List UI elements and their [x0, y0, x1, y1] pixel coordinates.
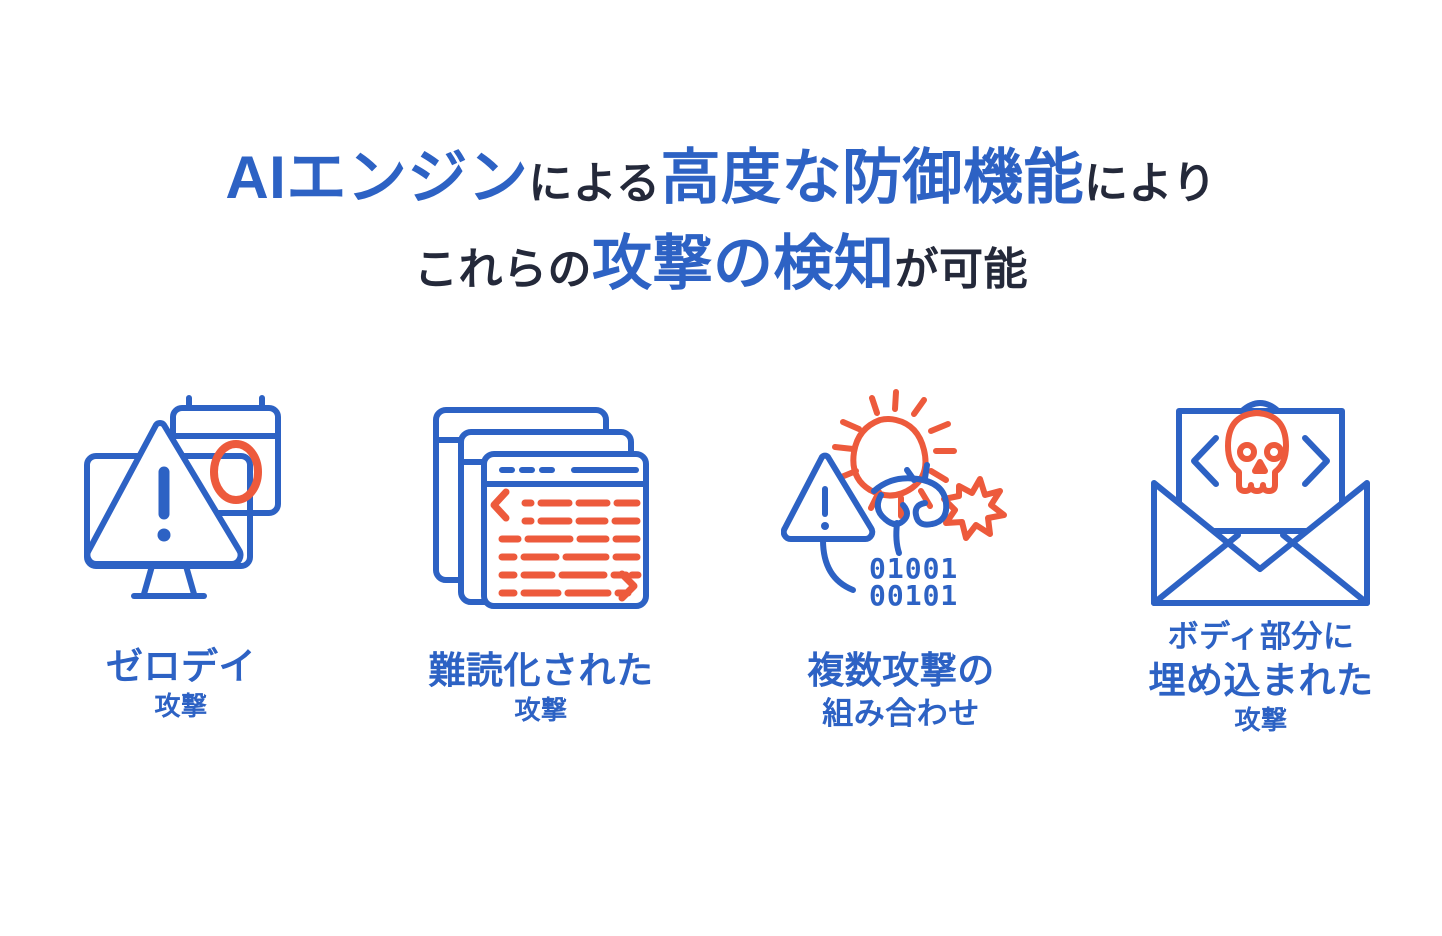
caption-line: ゼロデイ	[106, 643, 256, 690]
headline-segment-korerano: これらの	[414, 245, 592, 294]
headline-segment-attack-detection: 攻撃の検知	[592, 230, 895, 297]
headline-segment-niyori: により	[1084, 159, 1217, 208]
impact-burst-shape	[944, 479, 1004, 538]
card-obfuscated-attack: 難読化された 攻撃	[361, 375, 721, 728]
connector-arc	[823, 540, 853, 590]
binary-text-bottom: 00101	[869, 579, 958, 612]
icon-container-obfuscated	[426, 375, 656, 625]
caption-line: 組み合わせ	[807, 694, 995, 734]
caption-multi-attack: 複数攻撃の 組み合わせ	[807, 647, 995, 734]
card-body-embedded-attack: ボディ部分に 埋め込まれた 攻撃	[1081, 375, 1441, 737]
caption-line: 攻撃	[1149, 704, 1374, 737]
page-title: AIエンジンによる高度な防御機能により これらの攻撃の検知が可能	[0, 148, 1442, 294]
card-zero-day-attack: ゼロデイ 攻撃	[1, 375, 361, 724]
headline-segment-ai-engine: AIエンジン	[225, 144, 528, 211]
multi-attack-bug-binary-icon: 01001 00101	[781, 383, 1021, 618]
caption-line: 攻撃	[106, 690, 256, 723]
caption-line: 難読化された	[429, 647, 654, 694]
stacked-code-windows-icon	[426, 388, 656, 613]
caption-zero-day: ゼロデイ 攻撃	[106, 643, 256, 724]
worm-shape	[874, 465, 946, 553]
caption-line: 複数攻撃の	[807, 647, 995, 694]
caption-body-embedded: ボディ部分に 埋め込まれた 攻撃	[1149, 617, 1374, 737]
caption-obfuscated: 難読化された 攻撃	[429, 647, 654, 728]
headline-segment-advanced-defense: 高度な防御機能	[661, 144, 1085, 211]
caption-line: 攻撃	[429, 694, 654, 727]
headline-line-2: これらの攻撃の検知が可能	[0, 234, 1442, 294]
attack-type-card-row: ゼロデイ 攻撃	[0, 375, 1442, 737]
monitor-warning-zeroday-icon	[56, 380, 306, 620]
icon-container-zero-day	[56, 375, 306, 625]
headline-line-1: AIエンジンによる高度な防御機能により	[0, 148, 1442, 208]
card-multi-attack-combination: 01001 00101 複数攻撃の 組み合わせ	[721, 375, 1081, 734]
headline-segment-niyoru: による	[528, 159, 660, 208]
icon-container-body-embedded	[1146, 375, 1376, 625]
caption-line: ボディ部分に	[1149, 617, 1374, 657]
slide-canvas: AIエンジンによる高度な防御機能により これらの攻撃の検知が可能	[0, 0, 1442, 936]
envelope-skull-icon	[1146, 383, 1376, 618]
icon-container-multi-attack: 01001 00101	[781, 375, 1021, 625]
headline-segment-gakanou: が可能	[895, 245, 1029, 294]
caption-line: 埋め込まれた	[1149, 657, 1374, 704]
